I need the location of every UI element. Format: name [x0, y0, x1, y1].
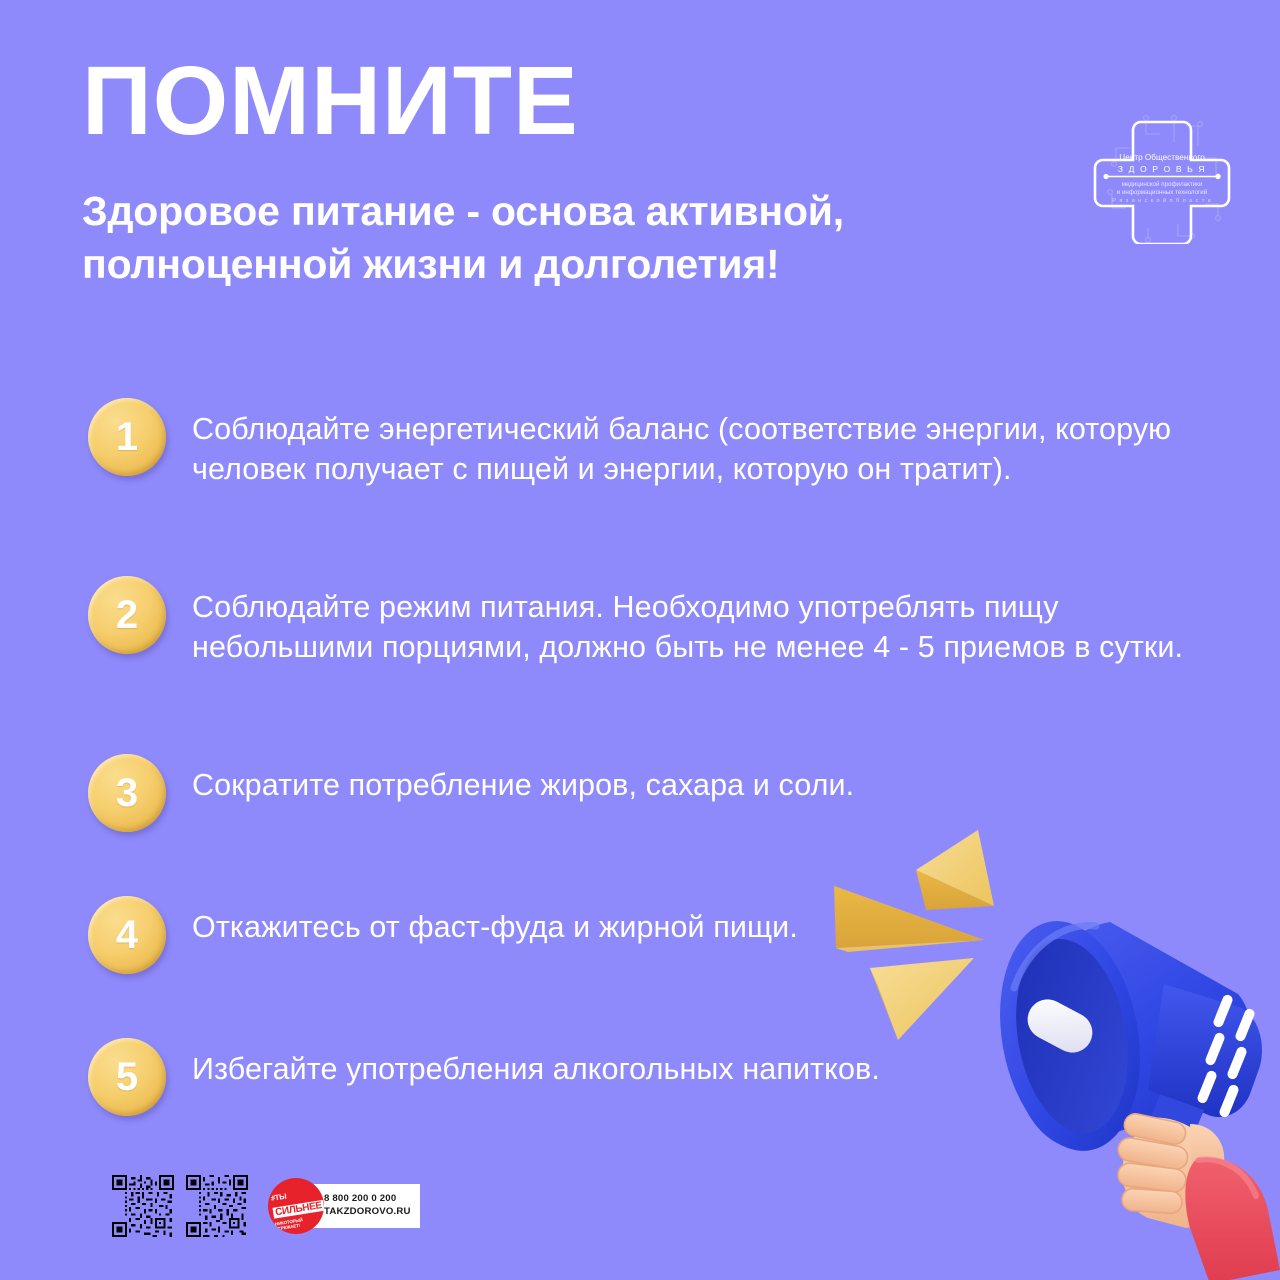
tip-text: Соблюдайте режим питания. Необходимо упо…	[192, 582, 1238, 668]
poster-root: ПОМНИТЕ Здоровое питание - основа активн…	[0, 0, 1280, 1280]
tip-number: 1	[116, 417, 138, 457]
tip-text: Сократите потребление жиров, сахара и со…	[192, 760, 854, 806]
tip-number-badge: 2	[88, 576, 166, 654]
page-subtitle: Здоровое питание - основа активной, полн…	[82, 185, 1012, 292]
tip-number: 4	[116, 915, 138, 955]
logo-line1: Центр Общественного	[1119, 153, 1205, 162]
tip-number-badge: 4	[88, 896, 166, 974]
header: ПОМНИТЕ Здоровое питание - основа активн…	[82, 52, 1042, 292]
logo-line2: З Д О Р О В Ь Я	[1118, 164, 1206, 174]
tip-number: 3	[116, 773, 138, 813]
contact-phone: 8 800 200 0 200	[324, 1193, 411, 1206]
list-item: 3 Сократите потребление жиров, сахара и …	[88, 760, 1238, 840]
page-title: ПОМНИТЕ	[82, 52, 1042, 149]
list-item: 2 Соблюдайте режим питания. Необходимо у…	[88, 582, 1238, 668]
logo-line4: и информационных технологий	[1117, 189, 1208, 196]
contact-box: 8 800 200 0 200 TAKZDOROVO.RU	[310, 1184, 420, 1228]
hand	[1116, 1112, 1224, 1228]
tip-number-badge: 5	[88, 1038, 166, 1116]
tip-number: 2	[116, 595, 138, 635]
qr-code-1[interactable]	[112, 1175, 174, 1237]
campaign-badge-ty-silnee[interactable]: #ТЫ СИЛЬНЕЕ НИКОТОРЫЙ УГРЕЖАЕТ!	[268, 1178, 324, 1234]
logo-line3: медицинской профилактики	[1122, 181, 1203, 188]
contact-site: TAKZDOROVO.RU	[324, 1206, 411, 1219]
sleeve	[1185, 1157, 1280, 1280]
tips-list: 1 Соблюдайте энергетический баланс (соот…	[88, 404, 1238, 1124]
list-item: 1 Соблюдайте энергетический баланс (соот…	[88, 404, 1238, 490]
footer: #ТЫ СИЛЬНЕЕ НИКОТОРЫЙ УГРЕЖАЕТ! 8 800 20…	[112, 1170, 420, 1242]
logo-line5: Р я з а н с к о й о б л а с т и	[1112, 197, 1211, 204]
logo-center-public-health: Центр Общественного З Д О Р О В Ь Я меди…	[1086, 112, 1238, 244]
qr-code-2[interactable]	[186, 1175, 248, 1237]
tip-text: Избегайте употребления алкогольных напит…	[192, 1044, 880, 1090]
tip-number-badge: 3	[88, 754, 166, 832]
tip-number-badge: 1	[88, 398, 166, 476]
list-item: 4 Откажитесь от фаст-фуда и жирной пищи.	[88, 902, 1238, 982]
tip-text: Откажитесь от фаст-фуда и жирной пищи.	[192, 902, 798, 948]
tip-text: Соблюдайте энергетический баланс (соотве…	[192, 404, 1238, 490]
tip-number: 5	[116, 1057, 138, 1097]
list-item: 5 Избегайте употребления алкогольных нап…	[88, 1044, 1238, 1124]
